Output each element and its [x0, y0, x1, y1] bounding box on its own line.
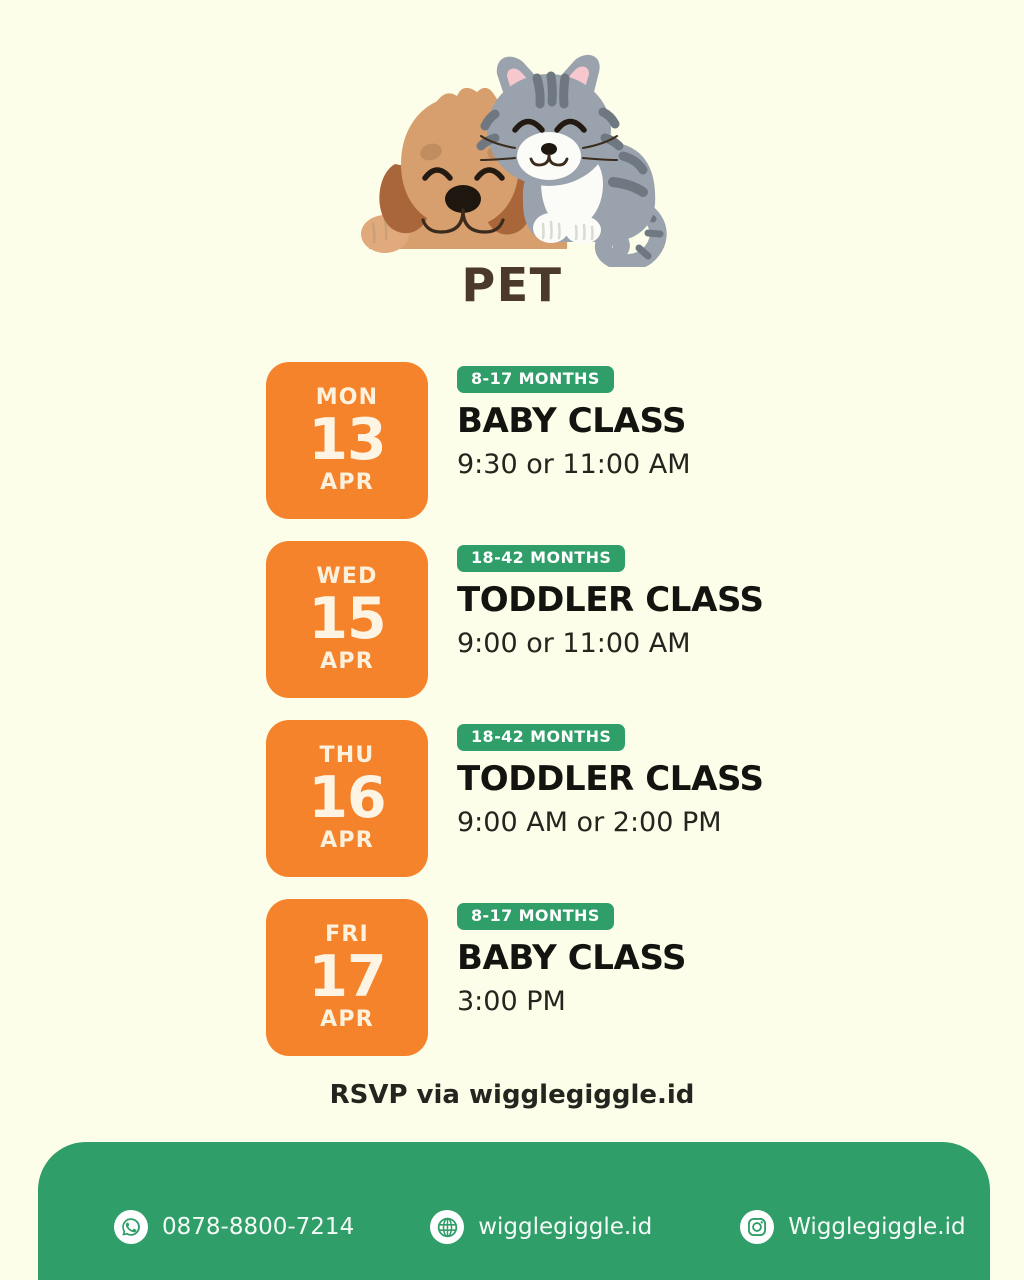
- schedule-list: MON 13 APR 8-17 MONTHS BABY CLASS 9:30 o…: [266, 362, 866, 1078]
- instagram-icon: [740, 1210, 774, 1244]
- date-weekday: WED: [316, 566, 377, 588]
- class-info: 18-42 MONTHS TODDLER CLASS 9:00 AM or 2:…: [457, 724, 857, 837]
- schedule-row[interactable]: MON 13 APR 8-17 MONTHS BABY CLASS 9:30 o…: [266, 362, 866, 519]
- contact-whatsapp[interactable]: 0878-8800-7214: [114, 1210, 354, 1244]
- footer-bar: 0878-8800-7214 wigglegiggle.id: [38, 1142, 990, 1280]
- schedule-row[interactable]: WED 15 APR 18-42 MONTHS TODDLER CLASS 9:…: [266, 541, 866, 698]
- pet-class-schedule-poster: PET MON 13 APR 8-17 MONTHS BABY CLASS 9:…: [0, 0, 1024, 1280]
- class-name: BABY CLASS: [457, 404, 857, 440]
- class-name: TODDLER CLASS: [457, 762, 857, 798]
- contact-website[interactable]: wigglegiggle.id: [430, 1210, 652, 1244]
- dog-and-cat-illustration: [355, 52, 675, 267]
- rsvp-text: RSVP via wigglegiggle.id: [0, 1082, 1024, 1108]
- age-badge: 8-17 MONTHS: [457, 366, 614, 393]
- schedule-row[interactable]: THU 16 APR 18-42 MONTHS TODDLER CLASS 9:…: [266, 720, 866, 877]
- date-day: 16: [308, 767, 385, 831]
- whatsapp-number: 0878-8800-7214: [162, 1216, 354, 1239]
- class-info: 8-17 MONTHS BABY CLASS 3:00 PM: [457, 903, 857, 1016]
- date-card: FRI 17 APR: [266, 899, 428, 1056]
- date-month: APR: [320, 651, 374, 673]
- page-title: PET: [0, 262, 1024, 308]
- age-badge: 8-17 MONTHS: [457, 903, 614, 930]
- date-day: 15: [308, 588, 385, 652]
- date-card: WED 15 APR: [266, 541, 428, 698]
- date-weekday: FRI: [325, 924, 369, 946]
- footer-contacts: 0878-8800-7214 wigglegiggle.id: [38, 1142, 990, 1280]
- schedule-row[interactable]: FRI 17 APR 8-17 MONTHS BABY CLASS 3:00 P…: [266, 899, 866, 1056]
- date-day: 13: [308, 409, 385, 473]
- date-weekday: MON: [316, 387, 379, 409]
- date-month: APR: [320, 1009, 374, 1031]
- age-badge: 18-42 MONTHS: [457, 724, 625, 751]
- date-card: THU 16 APR: [266, 720, 428, 877]
- class-time: 9:30 or 11:00 AM: [457, 451, 857, 479]
- hero-section: PET: [0, 0, 1024, 330]
- class-time: 3:00 PM: [457, 988, 857, 1016]
- class-info: 8-17 MONTHS BABY CLASS 9:30 or 11:00 AM: [457, 366, 857, 479]
- globe-icon: [430, 1210, 464, 1244]
- class-name: TODDLER CLASS: [457, 583, 857, 619]
- date-month: APR: [320, 472, 374, 494]
- date-month: APR: [320, 830, 374, 852]
- class-info: 18-42 MONTHS TODDLER CLASS 9:00 or 11:00…: [457, 545, 857, 658]
- class-name: BABY CLASS: [457, 941, 857, 977]
- instagram-handle: Wigglegiggle.id: [788, 1216, 965, 1239]
- date-weekday: THU: [320, 745, 375, 767]
- website-handle: wigglegiggle.id: [478, 1216, 652, 1239]
- date-day: 17: [308, 946, 385, 1010]
- class-time: 9:00 or 11:00 AM: [457, 630, 857, 658]
- age-badge: 18-42 MONTHS: [457, 545, 625, 572]
- date-card: MON 13 APR: [266, 362, 428, 519]
- class-time: 9:00 AM or 2:00 PM: [457, 809, 857, 837]
- whatsapp-icon: [114, 1210, 148, 1244]
- contact-instagram[interactable]: Wigglegiggle.id: [740, 1210, 965, 1244]
